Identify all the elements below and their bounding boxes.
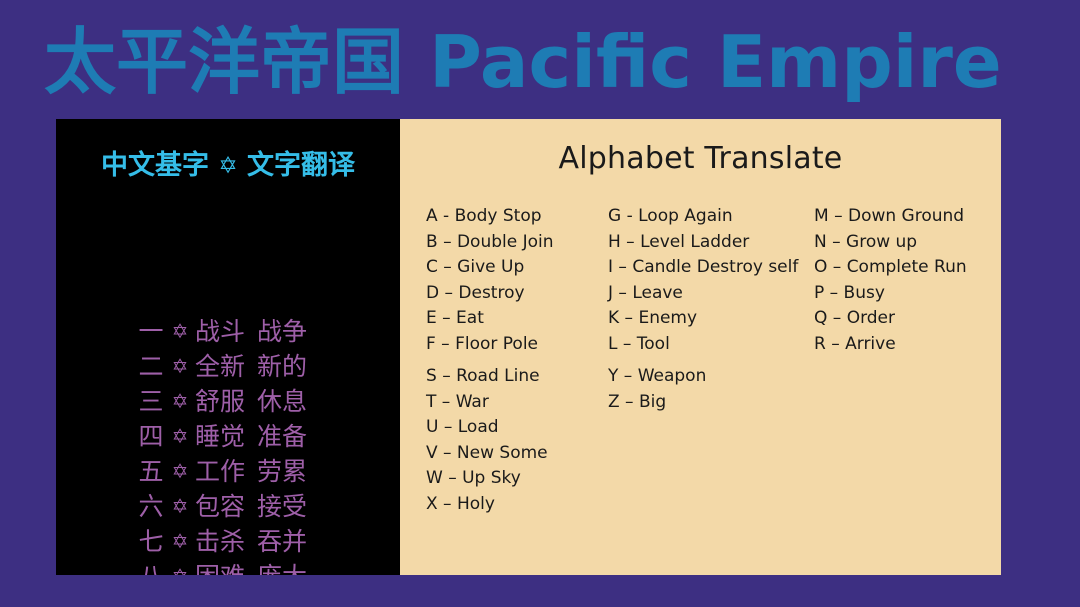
alphabet-column-3: M – Down Ground N – Grow up O – Complete… [814, 204, 994, 357]
row-number: 二 [137, 349, 165, 384]
list-item: T – War [426, 390, 616, 416]
list-item: M – Down Ground [814, 204, 994, 230]
chinese-glossary-list: 一✡战斗战争 二✡全新新的 三✡舒服休息 四✡睡觉准备 五✡工作劳累 六✡包容接… [56, 314, 400, 575]
row-word-1: 工作 [195, 454, 257, 489]
row-number: 五 [137, 454, 165, 489]
star-of-david-icon: ✡ [165, 314, 195, 349]
list-item: 三✡舒服休息 [56, 384, 400, 419]
list-item: Y – Weapon [608, 364, 816, 390]
row-word-1: 包容 [195, 489, 257, 524]
list-item: E – Eat [426, 306, 616, 332]
list-item: R – Arrive [814, 332, 994, 358]
alphabet-block-upper: A - Body Stop B – Double Join C – Give U… [426, 204, 986, 364]
row-word-2: 休息 [257, 384, 319, 419]
star-of-david-icon: ✡ [165, 384, 195, 419]
list-item: L – Tool [608, 332, 816, 358]
row-word-1: 全新 [195, 349, 257, 384]
alphabet-block-lower: S – Road Line T – War U – Load V – New S… [426, 364, 986, 524]
star-of-david-icon: ✡ [218, 153, 237, 179]
list-item: 四✡睡觉准备 [56, 419, 400, 454]
list-item: Q – Order [814, 306, 994, 332]
list-item: F – Floor Pole [426, 332, 616, 358]
alphabet-translate-panel: Alphabet Translate A - Body Stop B – Dou… [400, 119, 1001, 575]
row-number: 四 [137, 419, 165, 454]
page-title-latin: Pacific Empire [429, 20, 1002, 104]
star-of-david-icon: ✡ [165, 524, 195, 559]
list-item: P – Busy [814, 281, 994, 307]
list-item: G - Loop Again [608, 204, 816, 230]
list-item: 六✡包容接受 [56, 489, 400, 524]
list-item: 五✡工作劳累 [56, 454, 400, 489]
star-of-david-icon: ✡ [165, 559, 195, 575]
list-item: 八✡困难庞大 [56, 559, 400, 575]
page-title-space [404, 20, 429, 104]
list-item: C – Give Up [426, 255, 616, 281]
row-number: 三 [137, 384, 165, 419]
list-item: K – Enemy [608, 306, 816, 332]
list-item: 一✡战斗战争 [56, 314, 400, 349]
list-item: B – Double Join [426, 230, 616, 256]
list-item: N – Grow up [814, 230, 994, 256]
list-item: V – New Some [426, 441, 616, 467]
list-item: I – Candle Destroy self [608, 255, 816, 281]
chinese-glossary-heading: 中文基字 ✡ 文字翻译 [56, 143, 400, 182]
list-item: S – Road Line [426, 364, 616, 390]
star-of-david-icon: ✡ [165, 349, 195, 384]
heading-left-text: 中文基字 [101, 150, 209, 181]
alphabet-translate-grid: A - Body Stop B – Double Join C – Give U… [426, 204, 986, 524]
list-item: W – Up Sky [426, 466, 616, 492]
heading-right-text: 文字翻译 [247, 150, 355, 181]
row-word-2: 新的 [257, 349, 319, 384]
list-item: D – Destroy [426, 281, 616, 307]
list-item: O – Complete Run [814, 255, 994, 281]
list-item: A - Body Stop [426, 204, 616, 230]
star-of-david-icon: ✡ [165, 489, 195, 524]
list-item: 二✡全新新的 [56, 349, 400, 384]
page-title-cjk: 太平洋帝国 [44, 20, 404, 104]
row-word-2: 劳累 [257, 454, 319, 489]
row-word-1: 舒服 [195, 384, 257, 419]
slide-canvas: 太平洋帝国 Pacific Empire 中文基字 ✡ 文字翻译 一✡战斗战争 … [0, 0, 1080, 607]
list-item: J – Leave [608, 281, 816, 307]
row-number: 七 [137, 524, 165, 559]
row-word-2: 吞并 [257, 524, 319, 559]
list-item: X – Holy [426, 492, 616, 518]
row-word-1: 战斗 [195, 314, 257, 349]
star-of-david-icon: ✡ [165, 419, 195, 454]
list-item: Z – Big [608, 390, 816, 416]
alphabet-translate-heading: Alphabet Translate [400, 141, 1001, 176]
list-item: H – Level Ladder [608, 230, 816, 256]
alphabet-column-1: A - Body Stop B – Double Join C – Give U… [426, 204, 616, 357]
row-word-1: 睡觉 [195, 419, 257, 454]
alphabet-column-5: Y – Weapon Z – Big [608, 364, 816, 415]
alphabet-column-4: S – Road Line T – War U – Load V – New S… [426, 364, 616, 517]
row-word-1: 困难 [195, 559, 257, 575]
star-of-david-icon: ✡ [165, 454, 195, 489]
row-number: 六 [137, 489, 165, 524]
row-number: 一 [137, 314, 165, 349]
page-title: 太平洋帝国 Pacific Empire [44, 14, 1044, 110]
row-word-1: 击杀 [195, 524, 257, 559]
row-word-2: 庞大 [257, 559, 319, 575]
alphabet-column-2: G - Loop Again H – Level Ladder I – Cand… [608, 204, 816, 357]
row-number: 八 [137, 559, 165, 575]
list-item: 七✡击杀吞并 [56, 524, 400, 559]
row-word-2: 战争 [257, 314, 319, 349]
list-item: U – Load [426, 415, 616, 441]
row-word-2: 准备 [257, 419, 319, 454]
row-word-2: 接受 [257, 489, 319, 524]
chinese-glossary-panel: 中文基字 ✡ 文字翻译 一✡战斗战争 二✡全新新的 三✡舒服休息 四✡睡觉准备 … [56, 119, 400, 575]
